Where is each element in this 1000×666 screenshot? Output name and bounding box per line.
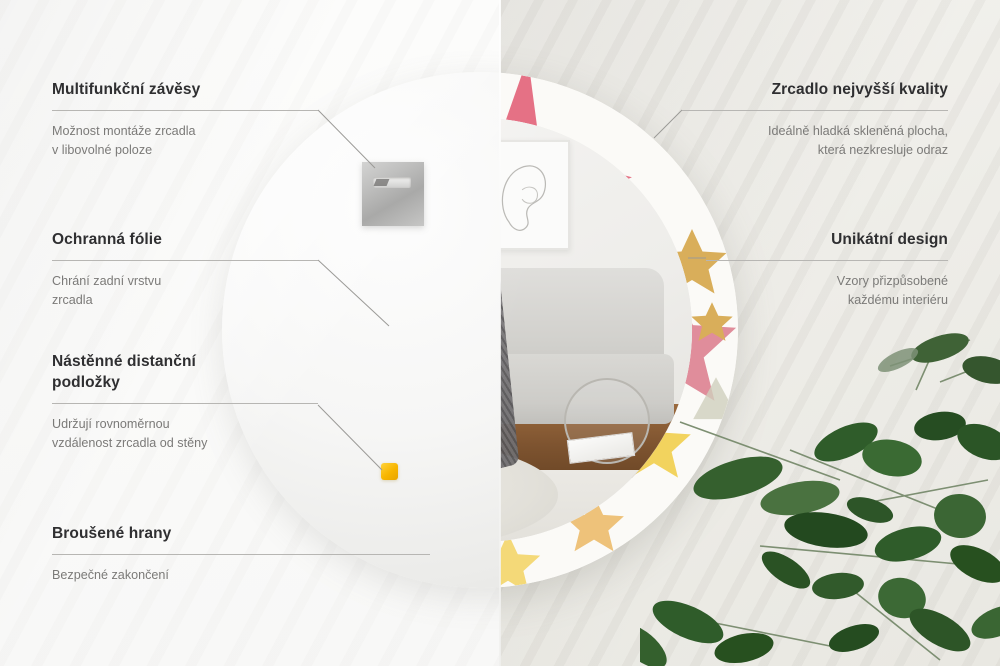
callout-rule xyxy=(52,260,318,261)
callout-desc-line-2: každému interiéru xyxy=(706,291,948,311)
hanger-slot xyxy=(373,177,411,188)
callout-description: Ideálně hladká skleněná plocha, která ne… xyxy=(682,122,948,161)
callout-desc-line-2: zrcadla xyxy=(52,291,318,311)
callout-desc-line-1: Ideálně hladká skleněná plocha, xyxy=(682,122,948,142)
callout-title: Zrcadlo nejvyšší kvality xyxy=(682,80,948,101)
callout-title: Nástěnné distanční podložky xyxy=(52,352,318,394)
callout-description: Vzory přizpůsobené každému interiéru xyxy=(706,272,948,311)
callout-title: Broušené hrany xyxy=(52,524,430,545)
infographic-canvas: Multifunkční závěsy Možnost montáže zrca… xyxy=(0,0,1000,666)
callout-description: Možnost montáže zrcadla v libovolné polo… xyxy=(52,122,318,161)
yellow-spacer-pad xyxy=(381,463,398,480)
callout-title: Unikátní design xyxy=(706,230,948,251)
callout-title-line-2: podložky xyxy=(52,373,318,394)
callout-desc-line-1: Vzory přizpůsobené xyxy=(706,272,948,292)
callout-description: Bezpečné zakončení xyxy=(52,566,430,586)
callout-desc-line-1: Bezpečné zakončení xyxy=(52,566,430,586)
callout-rule xyxy=(682,110,948,111)
foliage-decoration xyxy=(640,330,1000,666)
callout-multifunkcni-zavesy: Multifunkční závěsy Možnost montáže zrca… xyxy=(52,80,318,161)
callout-description: Chrání zadní vrstvu zrcadla xyxy=(52,272,318,311)
callout-rule xyxy=(52,403,318,404)
callout-zrcadlo-nejvyssi-kvality: Zrcadlo nejvyšší kvality Ideálně hladká … xyxy=(682,80,948,161)
callout-title-line-1: Nástěnné distanční xyxy=(52,352,318,373)
callout-desc-line-2: vzdálenost zrcadla od stěny xyxy=(52,434,318,454)
callout-desc-line-1: Možnost montáže zrcadla xyxy=(52,122,318,142)
callout-rule xyxy=(52,110,318,111)
callout-title: Ochranná fólie xyxy=(52,230,318,251)
callout-desc-line-1: Udržují rovnoměrnou xyxy=(52,415,318,435)
callout-unikatni-design: Unikátní design Vzory přizpůsobené každé… xyxy=(706,230,948,311)
callout-desc-line-2: která nezkresluje odraz xyxy=(682,141,948,161)
callout-brousene-hrany: Broušené hrany Bezpečné zakončení xyxy=(52,524,430,585)
foliage-svg xyxy=(640,330,1000,666)
wall-hanger-plate xyxy=(362,162,424,226)
callout-description: Udržují rovnoměrnou vzdálenost zrcadla o… xyxy=(52,415,318,454)
callout-rule xyxy=(52,554,430,555)
callout-nastenne-distancni-podlozky: Nástěnné distanční podložky Udržují rovn… xyxy=(52,352,318,454)
callout-ochranna-folie: Ochranná fólie Chrání zadní vrstvu zrcad… xyxy=(52,230,318,311)
callout-desc-line-2: v libovolné poloze xyxy=(52,141,318,161)
callout-title: Multifunkční závěsy xyxy=(52,80,318,101)
callout-desc-line-1: Chrání zadní vrstvu xyxy=(52,272,318,292)
callout-rule xyxy=(706,260,948,261)
